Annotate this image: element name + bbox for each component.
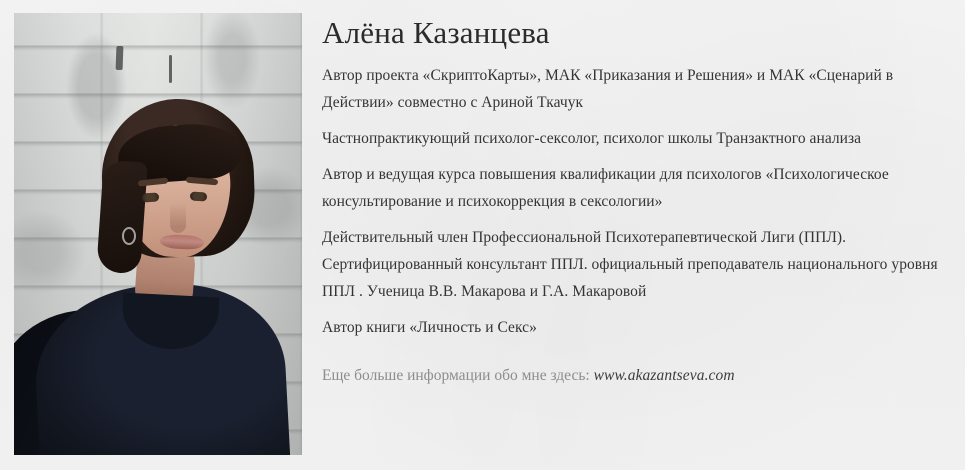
bio-paragraph-5: Автор книги «Личность и Секс» [322,314,952,341]
profile-photo [14,13,302,455]
hair-side-shape [96,160,148,275]
eye-right [190,191,208,201]
portrait-figure [14,13,302,455]
page-title: Алёна Казанцева [322,14,952,52]
eye-left [142,192,160,202]
nose-shape [170,203,186,233]
bio-paragraph-2: Частнопрактикующий психолог-сексолог, пс… [322,125,952,152]
bio-paragraph-1: Автор проекта «СкриптоКарты», МАК «Прика… [322,62,952,116]
bio-paragraph-3: Автор и ведущая курса повышения квалифик… [322,161,952,215]
earring-icon [122,227,136,245]
more-info-line: Еще больше информации обо мне здесь: www… [322,363,952,389]
more-info-label: Еще больше информации обо мне здесь: [322,367,590,384]
website-link[interactable]: www.akazantseva.com [594,367,735,384]
profile-content: Алёна Казанцева Автор проекта «СкриптоКа… [322,14,952,405]
bio-paragraph-4: Действительный член Профессиональной Пси… [322,224,952,305]
